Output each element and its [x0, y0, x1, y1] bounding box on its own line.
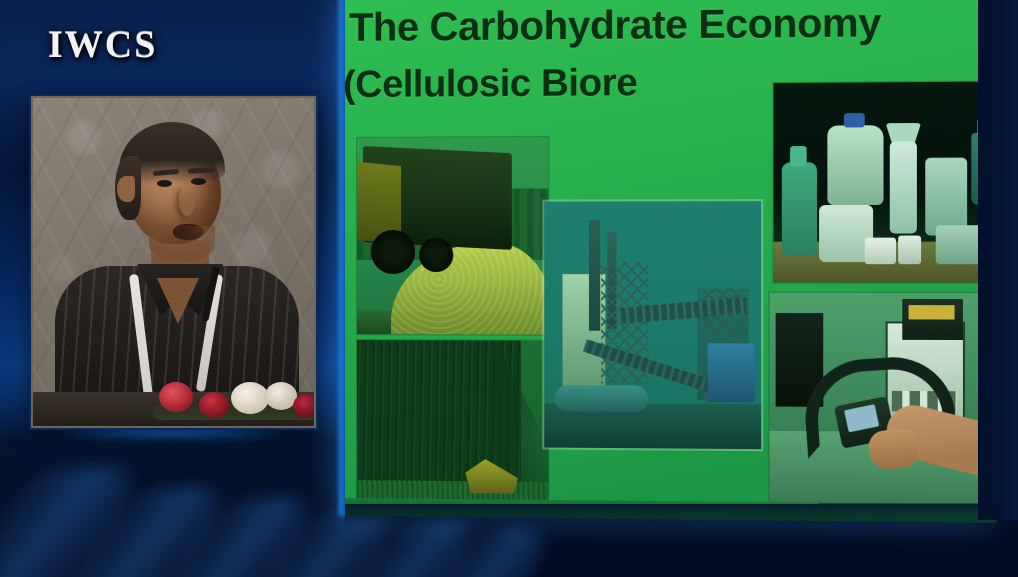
slide-title-line1: The Carbohydrate Economy	[349, 1, 881, 51]
slide-title-line2: (Cellulosic Biore	[345, 62, 637, 107]
slide-photo-biorefinery	[544, 201, 761, 449]
slide-photo-plantation	[357, 340, 548, 508]
speaker-nose	[179, 186, 195, 216]
broadcast-frame: IWCS	[0, 0, 1018, 577]
speaker-chin-shadow	[149, 226, 215, 262]
slide-photo-plastics	[774, 82, 989, 283]
slide-photo-fuel-pump	[769, 293, 988, 505]
person-hand	[867, 428, 919, 471]
speaker-eye-right	[191, 178, 206, 185]
screen-bottom-shadow	[345, 504, 1001, 531]
iwcs-logo: IWCS	[48, 22, 157, 66]
flower-arrangement	[153, 368, 316, 420]
speaker-video-inset	[31, 96, 316, 428]
speaker-photo	[33, 98, 314, 426]
room-right-wall	[978, 0, 1018, 520]
speaker-ear	[117, 176, 135, 202]
speaker-eye-left	[157, 180, 172, 187]
projection-screen: The Carbohydrate Economy (Cellulosic Bio…	[345, 0, 997, 523]
slide-photo-harvester	[357, 137, 548, 335]
presentation-slide: The Carbohydrate Economy (Cellulosic Bio…	[345, 0, 997, 523]
